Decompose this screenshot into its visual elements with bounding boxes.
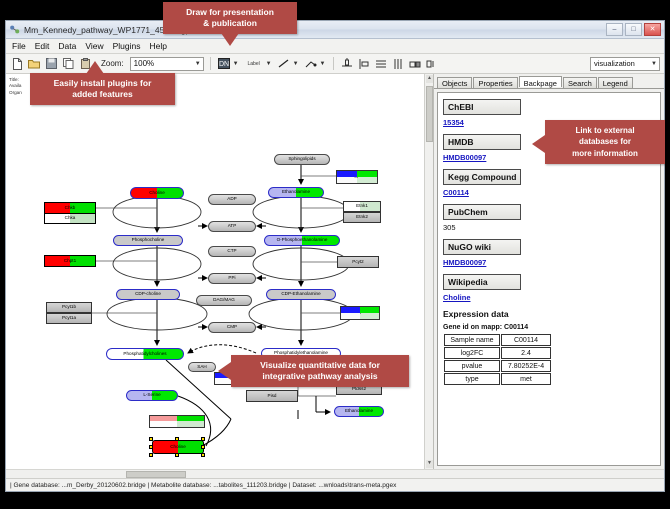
cell-key: Sample name [444,334,500,346]
table-row: Sample name C00114 [444,334,551,346]
svg-text:DN: DN [219,61,229,68]
node-label: O-Phosphoethanolamine [277,238,328,243]
scrollbar-thumb[interactable] [426,86,433,142]
tab-objects[interactable]: Objects [437,77,472,88]
callout-visualize-line2: integrative pathway analysis [262,371,377,382]
copy-icon[interactable] [61,56,75,71]
node-ppi[interactable]: PPi [208,273,256,284]
node-label: Choline [149,191,165,196]
callout-link-line2: databases for [579,136,631,148]
callout-link-line3: more information [572,148,638,160]
cell-value: C00114 [501,334,551,346]
label-tool-icon[interactable]: Label [244,56,264,71]
visualization-combobox[interactable]: visualization ▼ [590,57,660,71]
minimize-button[interactable]: – [606,23,623,36]
node-dagmag[interactable]: DAG/MAG [196,295,252,306]
node-label: Phosphocholine [132,238,165,243]
table-row: pvalue 7.80252E-4 [444,360,551,372]
node-phosphocholine[interactable]: Phosphocholine [113,235,183,246]
callout-draw-arrow [221,33,239,46]
scroll-up-icon[interactable]: ▲ [426,75,433,83]
node-label: Ethanolamine [345,409,373,414]
menu-bar: File Edit Data View Plugins Help [6,39,664,54]
window-controls: – □ ✕ [606,23,661,36]
db-header-chebi: ChEBI [443,99,521,115]
status-bar: | Gene database: ...m_Derby_20120602.bri… [6,478,664,491]
node-label: Choline [170,445,186,450]
node-label: CMP [227,325,237,330]
node-sah[interactable]: SAH [188,362,216,372]
cell-value: 2.4 [501,347,551,359]
node-phosphatidylcholines[interactable]: Phosphatidylcholines [106,348,184,360]
node-adp[interactable]: ADP [208,194,256,205]
scroll-down-icon[interactable]: ▼ [426,460,433,468]
node-cept1[interactable]: Cept1 [340,313,380,320]
callout-link: Link to external databases for more info… [545,120,665,164]
node-label: ATP [228,224,237,229]
node-o-phosphoethanolamine[interactable]: O-Phosphoethanolamine [264,235,340,246]
table-row: type met [444,373,551,385]
menu-view[interactable]: View [85,41,103,51]
node-label: Pcyt2 [352,260,364,265]
label-tool-text: Label [248,61,260,67]
chevron-down-icon: ▼ [651,61,657,67]
node-ptdss1[interactable]: Ptdss1 [149,421,205,428]
chevron-down-icon[interactable]: ▼ [266,61,272,67]
close-button[interactable]: ✕ [644,23,661,36]
zoom-combobox[interactable]: 100% ▼ [130,57,204,71]
tab-backpage[interactable]: Backpage [519,76,562,87]
node-pcyt1b[interactable]: Pcyt1b [46,302,92,313]
main-toolbar: Zoom: 100% ▼ DN ▼ Label ▼ ▼ ▼ [6,54,664,74]
node-cept1-bar[interactable] [340,306,380,313]
expression-data-table: Sample name C00114 log2FC 2.4 pvalue 7.8… [443,333,552,386]
node-etnk1[interactable]: Etnk1 [343,201,381,212]
scrollbar-thumb[interactable] [126,471,186,478]
node-label: Ptdss2 [352,387,366,392]
node-cmp[interactable]: CMP [208,322,256,333]
node-sgpl1[interactable]: Sgpl1 [336,177,378,184]
node-cdp-choline[interactable]: CDP-choline [116,289,180,300]
node-chpt1[interactable]: Chpt1 [44,255,96,267]
callout-draw-line2: & publication [203,18,257,29]
node-label: Phosphatidylcholines [123,352,166,357]
align-top-icon[interactable] [340,56,354,71]
pathvisio-app-icon [9,24,20,35]
node-label: Ethanolamine [282,190,310,195]
datanode-tool-icon[interactable]: DN [217,56,231,71]
toolbar-separator [210,57,211,70]
node-label: Etnk1 [356,204,368,209]
node-label: CDP-choline [135,292,161,297]
db-link-kegg-compound[interactable]: C00114 [443,188,655,197]
align-left-icon[interactable] [357,56,371,71]
node-label: DAG/MAG [213,298,235,303]
node-label: CTP [227,249,236,254]
callout-draw: Draw for presentation & publication [163,2,297,34]
db-link-nugo-wiki[interactable]: HMDB00097 [443,258,655,267]
node-sphingolipids[interactable]: Sphingolipids [274,154,330,165]
node-chka[interactable]: Chka [44,213,96,224]
callout-plugins-line1: Easily install plugins for [54,78,152,89]
node-label: Pcyt1b [62,305,76,310]
menu-file[interactable]: File [12,41,26,51]
line-tool-icon[interactable] [277,56,291,71]
side-panel-tabs: Objects Properties Backpage Search Legen… [434,74,664,89]
db-header-hmdb: HMDB [443,134,521,150]
node-label: Chpt1 [64,259,76,264]
node-label: Ptdss1 [170,421,184,422]
toolbar-separator [333,57,334,70]
node-label: CDP-Ethanolamine [281,292,320,297]
status-text: | Gene database: ...m_Derby_20120602.bri… [10,482,396,489]
cell-key: log2FC [444,347,500,359]
distribute-cols-icon[interactable] [391,56,405,71]
gene-id-on-mapp: Gene id on mapp: C00114 [443,324,655,331]
db-header-wikipedia: Wikipedia [443,274,521,290]
node-label: Sphingolipids [288,157,315,162]
maximize-button[interactable]: □ [625,23,642,36]
cell-key: type [444,373,500,385]
cell-value: met [501,373,551,385]
cell-key: pvalue [444,360,500,372]
zoom-label: Zoom: [101,59,124,68]
zoom-value: 100% [134,59,154,68]
node-label: Pcyt1a [62,316,76,321]
node-label: Etnk2 [356,215,368,220]
node-label: PPi [228,276,235,281]
open-file-icon[interactable] [27,56,41,71]
node-cdp-ethanolamine[interactable]: CDP-Ethanolamine [266,289,336,300]
canvas-vertical-scrollbar[interactable]: ▲ ▼ [424,74,433,469]
node-label: Chkb [65,206,76,211]
save-file-icon[interactable] [44,56,58,71]
callout-link-arrow [532,135,545,153]
node-label: ADP [227,197,236,202]
callout-visualize: Visualize quantitative data for integrat… [231,355,409,387]
db-header-pubchem: PubChem [443,204,521,220]
node-label: Chka [65,216,76,221]
node-atp[interactable]: ATP [208,221,256,232]
new-file-icon[interactable] [10,56,24,71]
menu-edit[interactable]: Edit [35,41,50,51]
node-ethanolamine-top[interactable]: Ethanolamine [268,187,324,198]
chevron-down-icon[interactable]: ▼ [233,61,239,67]
node-chkb[interactable]: Chkb [44,202,96,213]
interaction-tool-icon[interactable] [304,56,318,71]
size-equal-icon[interactable] [408,56,422,71]
callout-draw-line1: Draw for presentation [186,7,274,18]
stack-icon[interactable] [425,56,439,71]
node-l-serine-left[interactable]: L-Serine [126,390,178,401]
table-row: log2FC 2.4 [444,347,551,359]
node-label: SAH [197,365,206,370]
visualization-value: visualization [594,59,635,68]
callout-plugins-line2: added features [72,89,132,100]
window-titlebar: Mm_Kennedy_pathway_WP1771_45176.gpml – □… [6,21,664,39]
menu-data[interactable]: Data [58,41,76,51]
menu-help[interactable]: Help [150,41,167,51]
menu-plugins[interactable]: Plugins [113,41,141,51]
node-ethanolamine-bottom[interactable]: Ethanolamine [334,406,384,417]
pathway-canvas-panel[interactable]: Title: Availa Organ [6,74,434,469]
callout-visualize-arrow [218,362,231,380]
horizontal-scrollbar[interactable] [6,469,664,478]
db-header-nugo-wiki: NuGO wiki [443,239,521,255]
node-choline-top[interactable]: Choline [130,187,184,199]
callout-visualize-line1: Visualize quantitative data for [260,360,380,371]
node-sgpl1-bar[interactable] [336,170,378,177]
node-ctp[interactable]: CTP [208,246,256,257]
node-pisd[interactable]: Pisd [246,390,298,402]
distribute-rows-icon[interactable] [374,56,388,71]
chevron-down-icon: ▼ [195,61,201,67]
node-choline-selected[interactable]: Choline [152,440,204,454]
node-label: L-Serine [143,393,160,398]
callout-plugins: Easily install plugins for added feature… [30,73,175,105]
callout-plugins-arrow [86,61,104,74]
node-pcyt1a[interactable]: Pcyt1a [46,313,92,324]
db-link-wikipedia[interactable]: Choline [443,293,655,302]
chevron-down-icon[interactable]: ▼ [320,61,326,67]
db-value-pubchem: 305 [443,223,655,232]
tab-legend[interactable]: Legend [598,77,633,88]
node-etnk2[interactable]: Etnk2 [343,212,381,223]
tab-properties[interactable]: Properties [473,77,517,88]
expression-data-title: Expression data [443,309,655,319]
chevron-down-icon[interactable]: ▼ [293,61,299,67]
db-header-kegg-compound: Kegg Compound [443,169,521,185]
cell-value: 7.80252E-4 [501,360,551,372]
callout-link-line1: Link to external [575,125,634,137]
node-label: Cept1 [354,313,366,314]
node-pcyt2[interactable]: Pcyt2 [337,256,379,268]
node-label: Pisd [268,394,277,399]
tab-search[interactable]: Search [563,77,597,88]
node-label: Sgpl1 [351,177,363,178]
pathway-canvas[interactable]: Title: Availa Organ [6,74,433,469]
